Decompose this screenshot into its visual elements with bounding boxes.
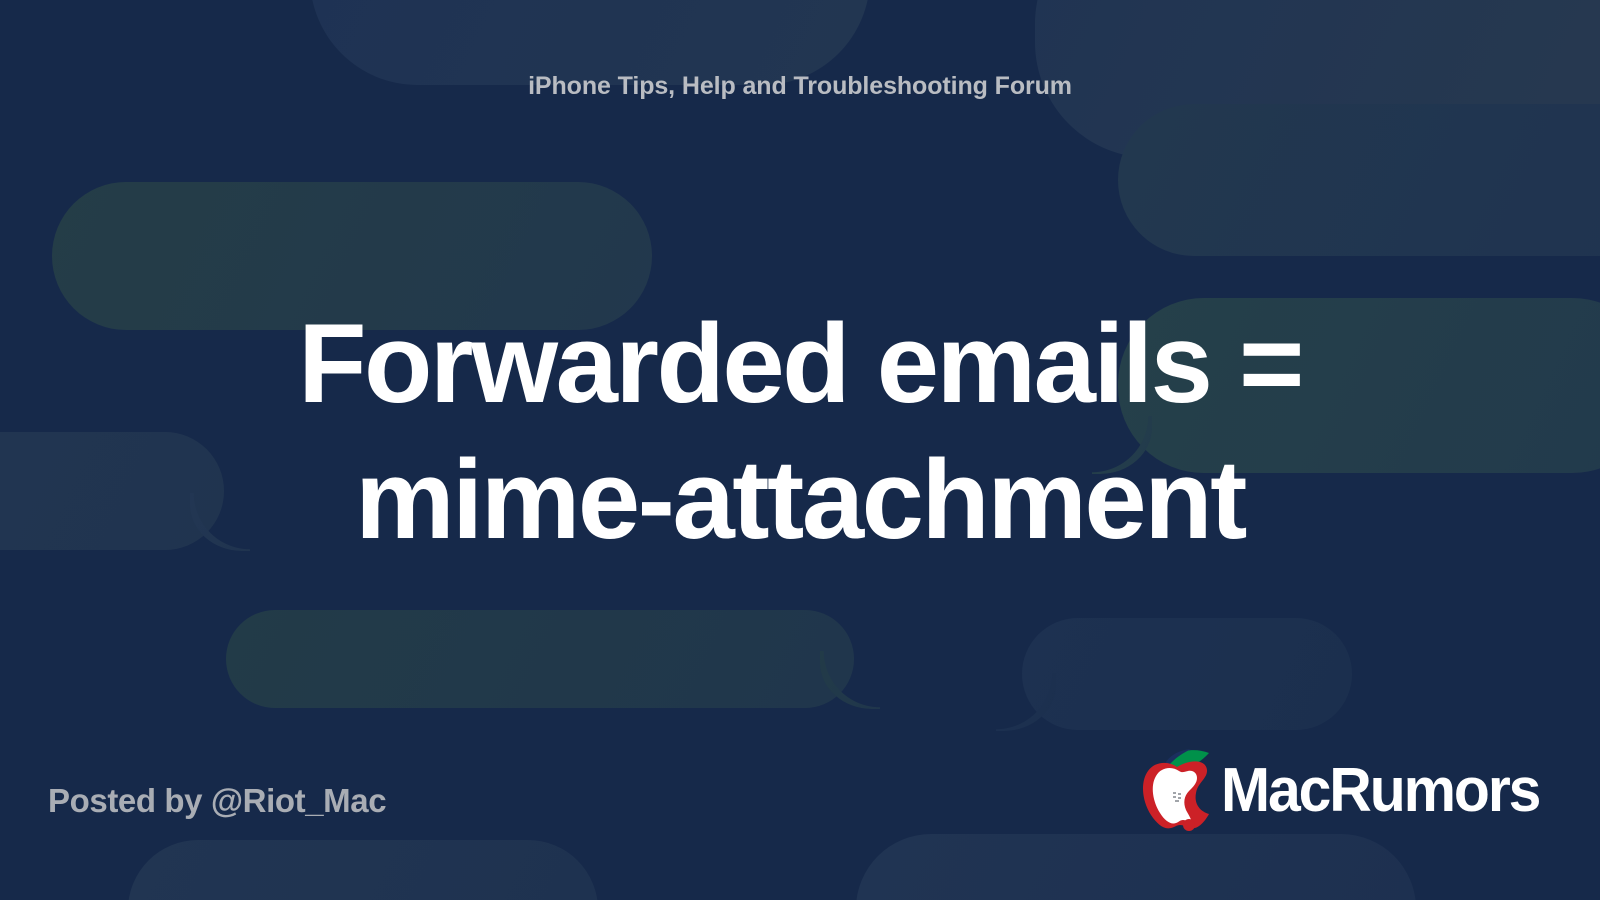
thread-title-line-2: mime-attachment xyxy=(355,437,1245,562)
forum-name: iPhone Tips, Help and Troubleshooting Fo… xyxy=(0,72,1600,101)
apple-question-dot xyxy=(1183,819,1195,831)
card-content: iPhone Tips, Help and Troubleshooting Fo… xyxy=(0,0,1600,900)
macrumors-logo: MacRumors xyxy=(1139,748,1556,834)
macrumors-apple-icon xyxy=(1139,748,1215,834)
posted-by-label: Posted by @Riot_Mac xyxy=(48,782,386,820)
macrumors-wordmark: MacRumors xyxy=(1221,760,1539,822)
thread-title-line-1: Forwarded emails = xyxy=(298,301,1302,426)
social-share-card: iPhone Tips, Help and Troubleshooting Fo… xyxy=(0,0,1600,900)
thread-title: Forwarded emails = mime-attachment xyxy=(210,296,1390,567)
